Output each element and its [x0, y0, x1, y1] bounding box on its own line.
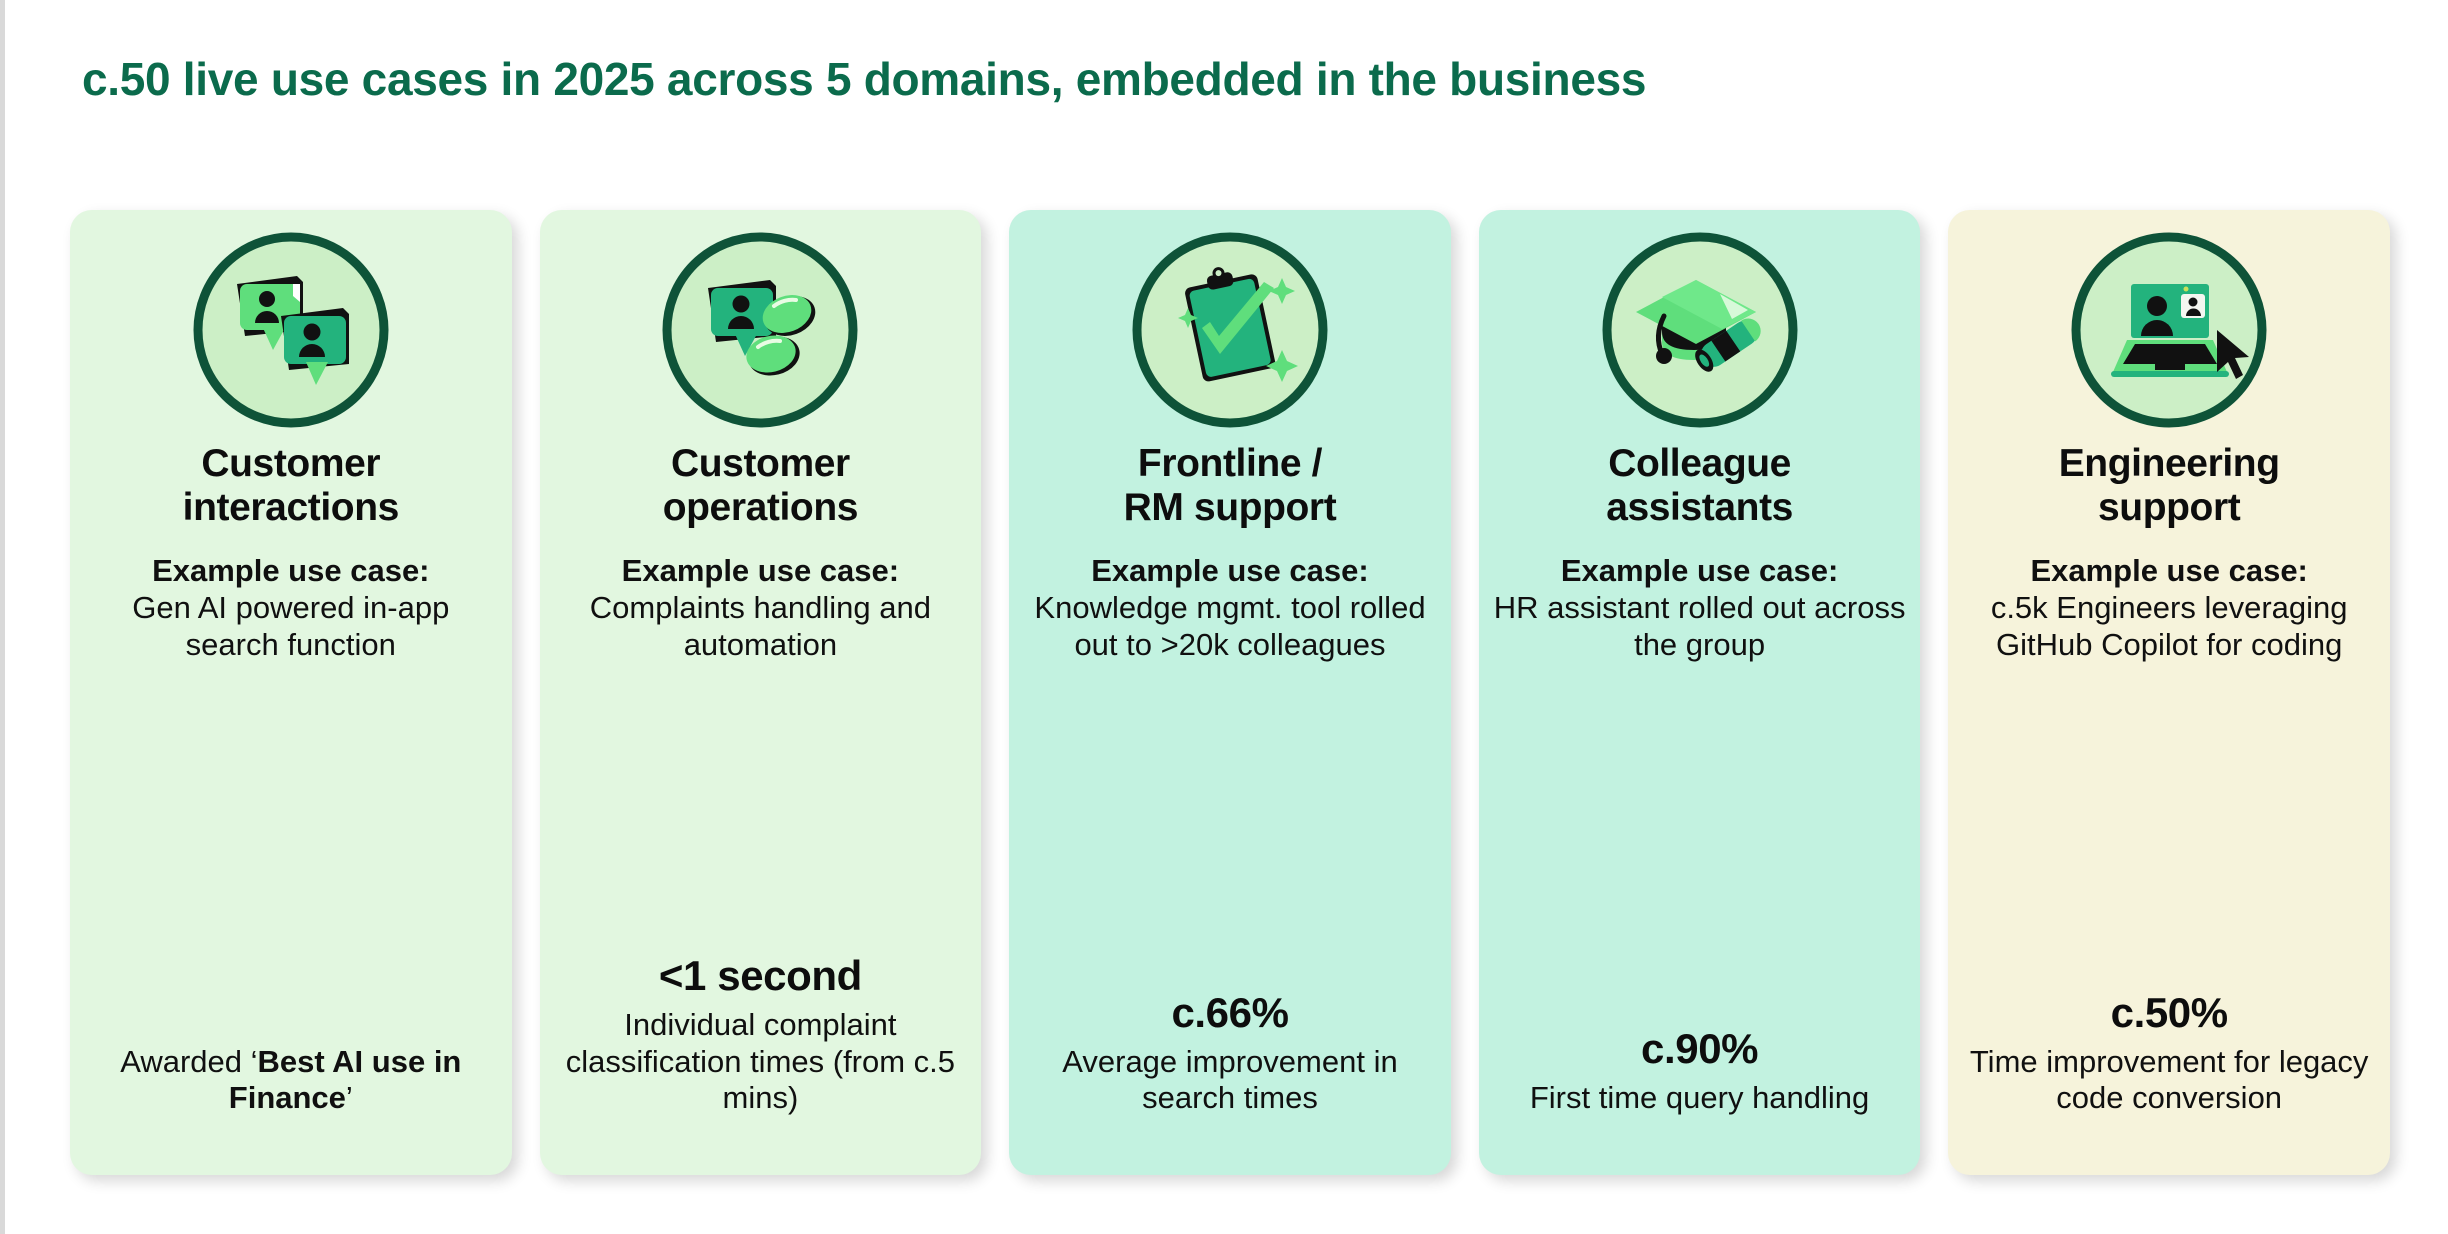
- stat-caption: Average improvement in search times: [1021, 1044, 1439, 1117]
- use-case-label: Example use case:: [1023, 553, 1437, 590]
- stat-value: c.66%: [1021, 990, 1439, 1036]
- card-customer-operations[interactable]: Customeroperations Example use case: Com…: [540, 210, 982, 1175]
- stat-caption-suffix: ’: [346, 1080, 353, 1115]
- use-case-label: Example use case:: [1493, 553, 1907, 590]
- stat-caption: Awarded ‘Best AI use in Finance’: [82, 1044, 500, 1117]
- use-case-cards-row: Customerinteractions Example use case: G…: [70, 210, 2390, 1175]
- stat-block: c.50% Time improvement for legacy code c…: [1948, 990, 2390, 1117]
- card-title: Engineeringsupport: [2051, 442, 2288, 529]
- use-case-block: Example use case: c.5k Engineers leverag…: [1948, 553, 2390, 663]
- use-case-label: Example use case:: [1962, 553, 2376, 590]
- graduation-cap-diploma-icon: [1602, 232, 1798, 428]
- card-title: Customeroperations: [655, 442, 866, 529]
- use-case-label: Example use case:: [554, 553, 968, 590]
- stat-caption-prefix: First time query handling: [1530, 1080, 1869, 1115]
- stat-caption-prefix: Awarded ‘: [120, 1044, 257, 1079]
- stat-value: c.90%: [1491, 1026, 1909, 1072]
- slide-canvas: c.50 live use cases in 2025 across 5 dom…: [0, 0, 2448, 1234]
- stat-block: Awarded ‘Best AI use in Finance’: [70, 1036, 512, 1117]
- clipboard-check-sparkles-icon: [1132, 232, 1328, 428]
- use-case-block: Example use case: HR assistant rolled ou…: [1479, 553, 1921, 663]
- use-case-text: c.5k Engineers leveraging GitHub Copilot…: [1962, 590, 2376, 663]
- use-case-label: Example use case:: [84, 553, 498, 590]
- stat-caption-prefix: Time improvement for legacy code convers…: [1970, 1044, 2369, 1116]
- use-case-text: Gen AI powered in-app search function: [84, 590, 498, 663]
- chat-bubbles-people-icon: [193, 232, 389, 428]
- stat-caption: Time improvement for legacy code convers…: [1960, 1044, 2378, 1117]
- card-title: Customerinteractions: [175, 442, 407, 529]
- stat-caption: First time query handling: [1491, 1080, 1909, 1117]
- card-title: Colleagueassistants: [1598, 442, 1801, 529]
- use-case-block: Example use case: Gen AI powered in-app …: [70, 553, 512, 663]
- chat-bubble-coins-icon: [662, 232, 858, 428]
- card-frontline-rm-support[interactable]: Frontline /RM support Example use case: …: [1009, 210, 1451, 1175]
- use-case-text: HR assistant rolled out across the group: [1493, 590, 1907, 663]
- use-case-text: Knowledge mgmt. tool rolled out to >20k …: [1023, 590, 1437, 663]
- use-case-block: Example use case: Complaints handling an…: [540, 553, 982, 663]
- page-title: c.50 live use cases in 2025 across 5 dom…: [82, 52, 1646, 106]
- card-customer-interactions[interactable]: Customerinteractions Example use case: G…: [70, 210, 512, 1175]
- use-case-text: Complaints handling and automation: [554, 590, 968, 663]
- card-engineering-support[interactable]: Engineeringsupport Example use case: c.5…: [1948, 210, 2390, 1175]
- card-colleague-assistants[interactable]: Colleagueassistants Example use case: HR…: [1479, 210, 1921, 1175]
- stat-value: <1 second: [552, 953, 970, 999]
- stat-caption-prefix: Average improvement in search times: [1062, 1044, 1397, 1116]
- stat-value: c.50%: [1960, 990, 2378, 1036]
- use-case-block: Example use case: Knowledge mgmt. tool r…: [1009, 553, 1451, 663]
- stat-block: c.90% First time query handling: [1479, 1026, 1921, 1117]
- stat-caption: Individual complaint classification time…: [552, 1007, 970, 1117]
- card-title: Frontline /RM support: [1116, 442, 1345, 529]
- stat-block: <1 second Individual complaint classific…: [540, 953, 982, 1117]
- laptop-person-cursor-icon: [2071, 232, 2267, 428]
- stat-caption-prefix: Individual complaint classification time…: [566, 1007, 955, 1115]
- stat-block: c.66% Average improvement in search time…: [1009, 990, 1451, 1117]
